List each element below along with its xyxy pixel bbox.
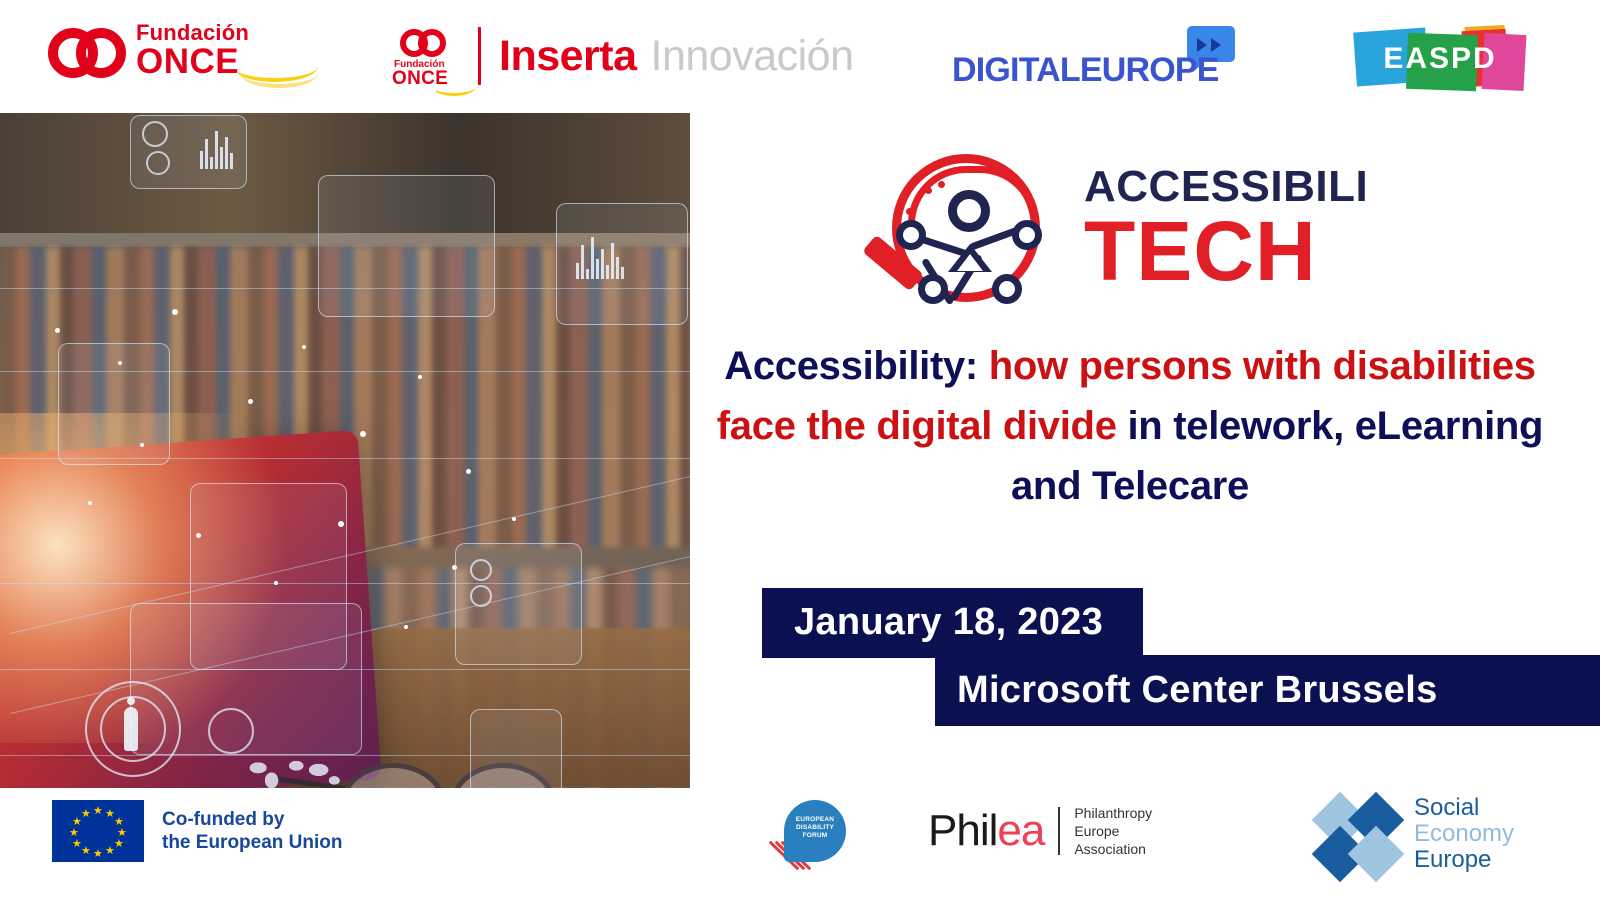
hud-panel-bottom xyxy=(470,709,562,788)
edf-line-2: DISABILITY xyxy=(788,824,842,832)
edf-line-1: EUROPEAN xyxy=(788,816,842,824)
philea-sub-2: Europe xyxy=(1074,822,1152,840)
digitaleurope-logo: DIGITALEUROPE xyxy=(952,26,1242,96)
eu-line-2: the European Union xyxy=(162,831,343,854)
page-title: Accessibility: how persons with disabili… xyxy=(690,336,1570,516)
eu-star: ★ xyxy=(72,840,81,849)
eu-cofunded-logo: ★ ★ ★ ★ ★ ★ ★ ★ ★ ★ ★ ★ Co-funded by the… xyxy=(52,800,382,862)
eu-cofunded-text: Co-funded by the European Union xyxy=(162,808,343,854)
head-node-icon xyxy=(948,190,990,232)
hud-panel-left xyxy=(58,343,170,465)
hud-bar-chart xyxy=(200,127,233,169)
eu-star: ★ xyxy=(93,807,102,816)
philea-word-1: Phil xyxy=(928,806,997,856)
see-diamond xyxy=(1348,826,1405,883)
once-swoosh-icon xyxy=(238,62,326,88)
network-node-icon xyxy=(1012,220,1042,250)
event-date-banner: January 18, 2023 xyxy=(762,588,1143,658)
event-venue-text: Microsoft Center Brussels xyxy=(957,668,1600,712)
network-node-icon xyxy=(918,274,948,304)
inserta-innovacion-logo: Fundación ONCE Inserta Innovación xyxy=(382,20,854,92)
event-venue-banner: Microsoft Center Brussels xyxy=(935,655,1600,726)
network-node-icon xyxy=(896,220,926,250)
eu-star: ★ xyxy=(81,847,90,856)
eu-star: ★ xyxy=(117,829,126,838)
see-line-3: Europe xyxy=(1414,846,1491,873)
event-poster: Fundación ONCE Fundación ONCE Inserta In… xyxy=(0,0,1600,900)
philea-sub-1: Philanthropy xyxy=(1074,804,1152,822)
headline-part-2: how persons with xyxy=(989,344,1322,388)
eu-star: ★ xyxy=(114,840,123,849)
hud-target-icon xyxy=(470,559,492,581)
header-logo-bar: Fundación ONCE Fundación ONCE Inserta In… xyxy=(0,0,1600,112)
hud-globe-icon xyxy=(208,708,254,754)
eu-star: ★ xyxy=(114,818,123,827)
once-fundacion-text: Fundación xyxy=(136,22,321,44)
social-economy-europe-logo: Social Economy Europe xyxy=(1310,792,1560,872)
philea-word-2: ea xyxy=(997,806,1044,856)
accessibilitech-logo: ACCESSIBILI TECH xyxy=(862,148,1312,308)
once-rings-icon xyxy=(48,28,126,80)
inserta-rings-icon xyxy=(400,29,452,59)
hud-target-icon xyxy=(146,151,170,175)
philea-subtitle: Philanthropy Europe Association xyxy=(1074,804,1152,858)
body-triangle-icon xyxy=(948,244,992,272)
inserta-once-mark: Fundación ONCE xyxy=(382,21,474,91)
eu-star: ★ xyxy=(81,810,90,819)
philea-logo: Phil ea Philanthropy Europe Association xyxy=(928,800,1228,862)
hero-photo xyxy=(0,113,690,788)
see-line-1: Social xyxy=(1414,794,1479,821)
edf-text: EUROPEAN DISABILITY FORUM xyxy=(788,816,842,840)
hud-target-icon xyxy=(142,121,168,147)
magnifier-network-icon xyxy=(862,148,1072,308)
eu-star: ★ xyxy=(105,810,114,819)
hud-panel-mid xyxy=(318,175,495,317)
eu-line-1: Co-funded by xyxy=(162,808,343,831)
european-disability-forum-logo: EUROPEAN DISABILITY FORUM xyxy=(766,796,852,872)
easpd-logo: EASPD xyxy=(1355,22,1525,92)
eu-star: ★ xyxy=(105,847,114,856)
hud-waveform xyxy=(576,233,624,279)
event-date-text: January 18, 2023 xyxy=(794,600,1103,644)
network-node-icon xyxy=(992,274,1022,304)
hud-person-icon xyxy=(124,707,138,751)
fundacion-once-logo: Fundación ONCE xyxy=(48,22,318,88)
inserta-divider xyxy=(478,27,481,85)
see-line-2: Economy xyxy=(1414,820,1514,847)
hud-world-map xyxy=(238,751,350,788)
eu-star: ★ xyxy=(72,818,81,827)
brand-name-bottom: TECH xyxy=(1084,206,1317,296)
eu-star: ★ xyxy=(69,829,78,838)
easpd-wordmark: EASPD xyxy=(1355,44,1525,74)
inserta-word: Inserta xyxy=(499,32,637,80)
digitaleurope-wordmark: DIGITALEUROPE xyxy=(952,52,1219,88)
headline-part-1: Accessibility: xyxy=(724,344,978,388)
philea-divider xyxy=(1058,807,1060,855)
edf-line-3: FORUM xyxy=(788,832,842,840)
eu-star: ★ xyxy=(93,850,102,859)
eu-flag-icon: ★ ★ ★ ★ ★ ★ ★ ★ ★ ★ ★ ★ xyxy=(52,800,144,862)
inserta-swoosh-icon xyxy=(436,84,478,98)
philea-sub-3: Association xyxy=(1074,840,1152,858)
innovacion-word: Innovación xyxy=(651,32,854,80)
